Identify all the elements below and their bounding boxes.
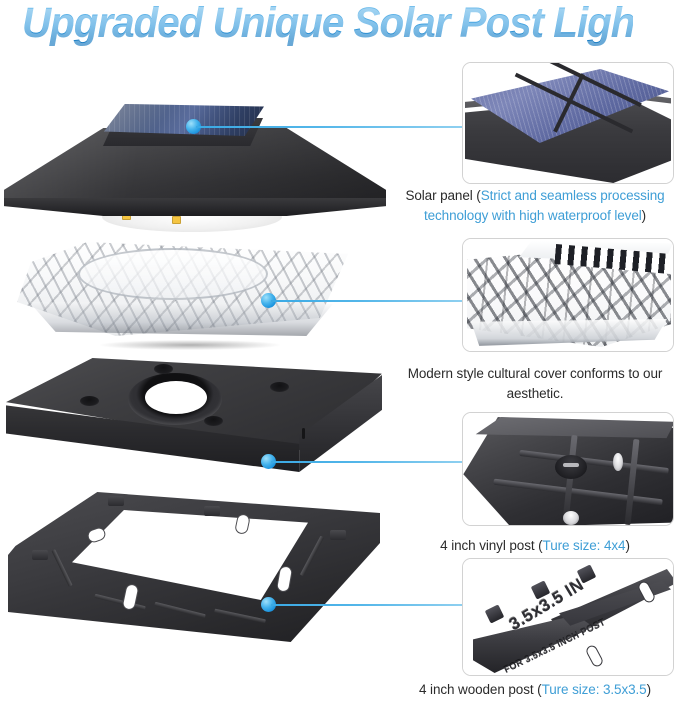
connector-line-wooden-post bbox=[271, 604, 464, 606]
solar-panel-closeup-image bbox=[463, 63, 673, 183]
crystal-cover-texture-image bbox=[463, 239, 673, 351]
caption-highlight: Ture size: 3.5x3.5 bbox=[542, 682, 647, 697]
crystal-cover-edge bbox=[16, 302, 346, 336]
caption-vinyl-post: 4 inch vinyl post (Ture size: 4x4) bbox=[396, 536, 674, 556]
callout-vinyl-post bbox=[462, 412, 674, 526]
product-part-vinyl-base-plate bbox=[6, 358, 388, 498]
callout-solar-panel bbox=[462, 62, 674, 184]
frame-tab bbox=[330, 530, 346, 540]
cover-bottom-rim bbox=[467, 319, 671, 347]
solar-panel-glare bbox=[104, 104, 264, 136]
screw-hole bbox=[154, 364, 173, 374]
screw-hole bbox=[80, 396, 99, 406]
frame-tab bbox=[108, 496, 124, 506]
caption-lead: 4 inch wooden post ( bbox=[419, 682, 542, 697]
caption-lead: Solar panel ( bbox=[405, 188, 480, 203]
caption-tail: ) bbox=[647, 682, 651, 697]
caption-lead: 4 inch vinyl post ( bbox=[440, 538, 542, 553]
frame-tab bbox=[32, 550, 48, 560]
product-part-crystal-cover bbox=[10, 240, 370, 350]
page-title: Upgraded Unique Solar Post Lights bbox=[22, 0, 633, 48]
caption-solar-panel: Solar panel (Strict and seamless process… bbox=[396, 186, 674, 226]
callout-wooden-post: 3.5x3.5 IN FOR 3.5x3.5 INCH POST bbox=[462, 558, 674, 676]
power-switch-slot bbox=[302, 428, 305, 439]
connector-line-cultural-cover bbox=[271, 300, 464, 302]
caption-highlight: Ture size: 4x4 bbox=[543, 538, 626, 553]
caption-tail: ) bbox=[625, 538, 629, 553]
title-banner: Upgraded Unique Solar Post Lights bbox=[0, 0, 679, 54]
center-boss-slot bbox=[563, 463, 579, 467]
wooden-post-adapter-embossing-image: 3.5x3.5 IN FOR 3.5x3.5 INCH POST bbox=[463, 559, 673, 675]
caption-tail: ) bbox=[642, 208, 646, 223]
vinyl-post-underside-image bbox=[463, 413, 673, 525]
caption-wooden-post: 4 inch wooden post (Ture size: 3.5x3.5) bbox=[396, 680, 674, 700]
screw-hole bbox=[563, 511, 579, 525]
adapter-tab bbox=[485, 604, 505, 623]
screw-hole bbox=[613, 453, 623, 471]
connector-line-vinyl-post bbox=[271, 461, 464, 463]
adapter-slot bbox=[584, 644, 604, 669]
connector-line-solar-panel bbox=[196, 126, 464, 128]
frame-tab bbox=[204, 506, 220, 516]
crystal-cover-shadow bbox=[100, 340, 280, 350]
callout-cultural-cover bbox=[462, 238, 674, 352]
product-infographic: Upgraded Unique Solar Post Lights bbox=[0, 0, 679, 704]
crystal-cover-inner-ring bbox=[78, 248, 268, 300]
lid-rim bbox=[4, 198, 386, 216]
screw-hole bbox=[270, 382, 289, 392]
screw-hole bbox=[204, 416, 223, 426]
caption-cultural-cover: Modern style cultural cover conforms to … bbox=[396, 364, 674, 404]
caption-lead: Modern style cultural cover conforms to … bbox=[408, 366, 663, 401]
center-boss bbox=[555, 455, 587, 479]
base-plate-center-opening bbox=[145, 381, 207, 414]
led-chip bbox=[172, 216, 181, 224]
product-part-wooden-post-adapter-frame bbox=[8, 492, 390, 652]
